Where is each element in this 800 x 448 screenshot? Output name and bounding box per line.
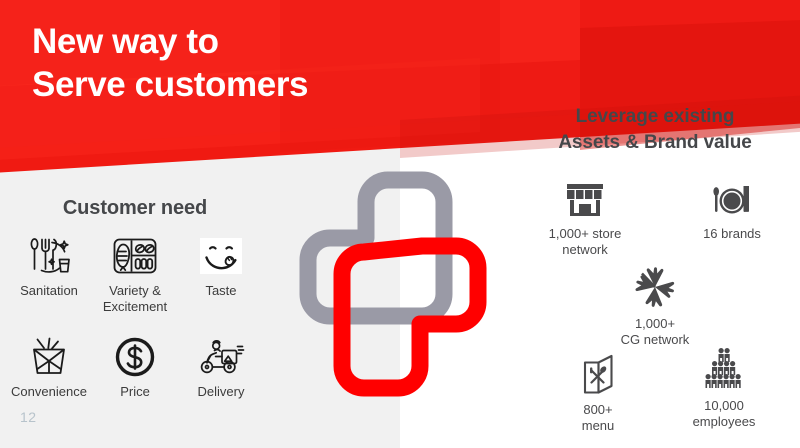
menu-book-icon	[538, 348, 658, 396]
page-number: 12	[20, 409, 37, 425]
people-pyramid-icon	[664, 344, 784, 392]
need-label-convenience: Convenience	[11, 384, 87, 400]
delivery-scooter-icon	[196, 333, 246, 381]
right-heading-line-2: Assets & Brand value	[520, 130, 790, 156]
takeout-box-icon	[26, 333, 72, 381]
customer-need-grid: Sanitation	[6, 232, 266, 400]
need-label-sanitation: Sanitation	[20, 283, 78, 299]
page-title-line-2: Serve customers	[32, 63, 552, 106]
customer-need-row-1: Sanitation	[6, 232, 266, 315]
page-title-line-1: New way to	[32, 20, 552, 63]
right-panel-heading: Leverage existing Assets & Brand value	[520, 104, 790, 156]
need-item-sanitation[interactable]: Sanitation	[6, 232, 92, 315]
need-label-variety: Variety & Excitement	[103, 283, 167, 315]
asset-employees[interactable]: 10,000 employees	[664, 344, 784, 431]
asset-brands[interactable]: 16 brands	[672, 172, 792, 242]
need-item-delivery[interactable]: Delivery	[178, 333, 264, 400]
tasty-face-icon	[198, 232, 244, 280]
left-panel-heading: Customer need	[0, 197, 270, 220]
slide-canvas: New way to Serve customers Leverage exis…	[0, 0, 800, 448]
storefront-icon	[525, 172, 645, 220]
hands-network-icon	[595, 262, 715, 310]
right-heading-line-1: Leverage existing	[520, 104, 790, 130]
need-label-price: Price	[120, 384, 150, 400]
need-item-taste[interactable]: Taste	[178, 232, 264, 315]
asset-label-menu: 800+ menu	[538, 402, 658, 435]
need-label-delivery: Delivery	[198, 384, 245, 400]
interlocking-cross-logo	[285, 160, 525, 410]
asset-label-employees: 10,000 employees	[664, 398, 784, 431]
need-item-convenience[interactable]: Convenience	[6, 333, 92, 400]
bento-box-icon	[112, 232, 158, 280]
cutlery-sparkle-icon	[26, 232, 72, 280]
asset-menu[interactable]: 800+ menu	[538, 348, 658, 435]
asset-label-brands: 16 brands	[672, 226, 792, 242]
plate-cutlery-icon	[672, 172, 792, 220]
page-title: New way to Serve customers	[32, 20, 552, 107]
dollar-coin-icon	[113, 333, 157, 381]
customer-need-row-2: Convenience Price	[6, 333, 266, 400]
asset-label-store-network: 1,000+ store network	[525, 226, 645, 259]
asset-store-network[interactable]: 1,000+ store network	[525, 172, 645, 259]
need-item-variety[interactable]: Variety & Excitement	[92, 232, 178, 315]
need-item-price[interactable]: Price	[92, 333, 178, 400]
asset-cg-network[interactable]: 1,000+ CG network	[595, 262, 715, 349]
need-label-taste: Taste	[205, 283, 236, 299]
